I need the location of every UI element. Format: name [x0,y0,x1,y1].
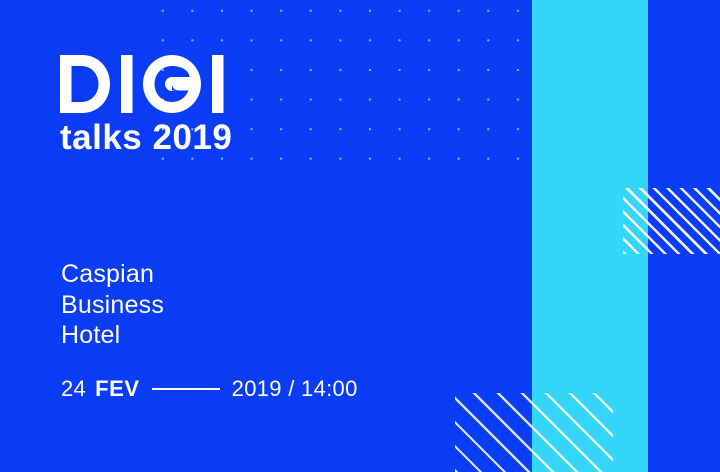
event-poster: talks 2019 Caspian Business Hotel 24 FEV… [0,0,720,472]
brand-logo: talks 2019 [60,55,310,155]
event-year-time: 2019 / 14:00 [232,378,358,400]
venue-line-3: Hotel [61,320,164,351]
digi-logomark-icon [60,55,240,113]
event-datetime: 24 FEV 2019 / 14:00 [61,378,358,400]
brand-wordmark: talks 2019 [60,120,310,155]
diagonal-hatch-bottom [455,393,613,472]
date-divider-rule [152,388,220,390]
event-day: 24 [61,378,86,400]
venue-line-1: Caspian [61,259,164,290]
event-month: FEV [95,378,140,400]
venue-line-2: Business [61,290,164,321]
diagonal-hatch-upper-right-overlay [623,188,648,254]
venue-name: Caspian Business Hotel [61,259,164,351]
